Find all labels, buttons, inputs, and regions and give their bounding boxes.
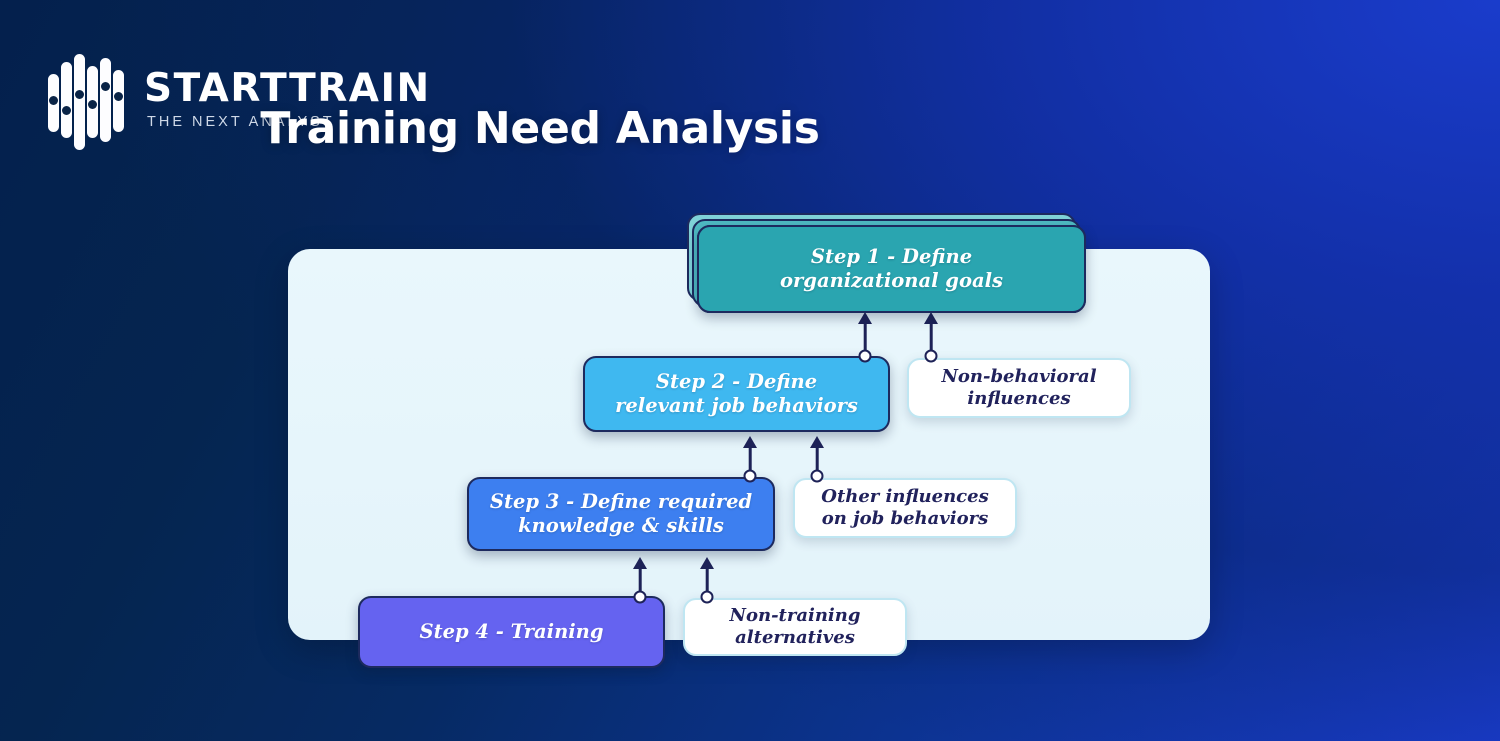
page-title-text: Training Need Analysis [260,103,819,154]
node-non-behavioral-influences-line-2: influences [967,388,1070,409]
node-step-3[interactable]: Step 3 - Define required knowledge & ski… [467,477,775,551]
node-step-1-line-1: Step 1 - Define [811,245,972,268]
node-non-behavioral-influences-line-1: Non-behavioral [941,366,1096,387]
node-step-2[interactable]: Step 2 - Define relevant job behaviors [583,356,890,432]
node-other-influences-line-2: on job behaviors [822,508,988,529]
node-step-2-label: Step 2 - Define relevant job behaviors [603,370,870,418]
connector-step3-to-step2 [743,436,757,476]
connector-node [744,470,757,483]
slide-canvas: STARTTRAIN THE NEXT ANALYST Training Nee… [0,0,1500,741]
node-other-influences-line-1: Other influences [821,486,988,507]
node-step-1-label: Step 1 - Define organizational goals [768,245,1015,293]
node-non-training-alternatives-label: Non-training alternatives [718,605,873,649]
node-step-2-line-1: Step 2 - Define [656,370,817,393]
node-step-1-line-2: organizational goals [780,269,1003,292]
node-step-3-line-2: knowledge & skills [518,514,724,537]
node-other-influences-label: Other influences on job behaviors [809,486,1000,530]
connector-other-influences-to-step2 [810,436,824,476]
node-step-3-line-1: Step 3 - Define required [490,490,752,513]
node-non-training-alternatives-line-1: Non-training [730,605,861,626]
connector-node [634,591,647,604]
node-step-4-label: Step 4 - Training [408,620,616,644]
node-non-training-alternatives[interactable]: Non-training alternatives [683,598,907,656]
connector-step2-to-step1 [858,312,872,356]
connector-node [859,350,872,363]
node-step-2-line-2: relevant job behaviors [615,394,858,417]
connector-non-behavioral-influences-to-step1 [924,312,938,356]
node-step-4-line-1: Step 4 - Training [420,620,604,643]
brand-name: STARTTRAIN [144,69,431,108]
connector-non-training-alternatives-to-step3 [700,557,714,597]
page-title: Training Need Analysis [0,103,1500,154]
node-other-influences-on-job-behaviors[interactable]: Other influences on job behaviors [793,478,1017,538]
connector-node [811,470,824,483]
connector-node [701,591,714,604]
connector-node [925,350,938,363]
node-non-behavioral-influences[interactable]: Non-behavioral influences [907,358,1131,418]
node-step-4[interactable]: Step 4 - Training [358,596,665,668]
node-non-training-alternatives-line-2: alternatives [735,627,855,648]
node-step-3-label: Step 3 - Define required knowledge & ski… [478,490,764,538]
node-step-1[interactable]: Step 1 - Define organizational goals [697,225,1086,313]
node-non-behavioral-influences-label: Non-behavioral influences [929,366,1108,410]
connector-step4-to-step3 [633,557,647,597]
